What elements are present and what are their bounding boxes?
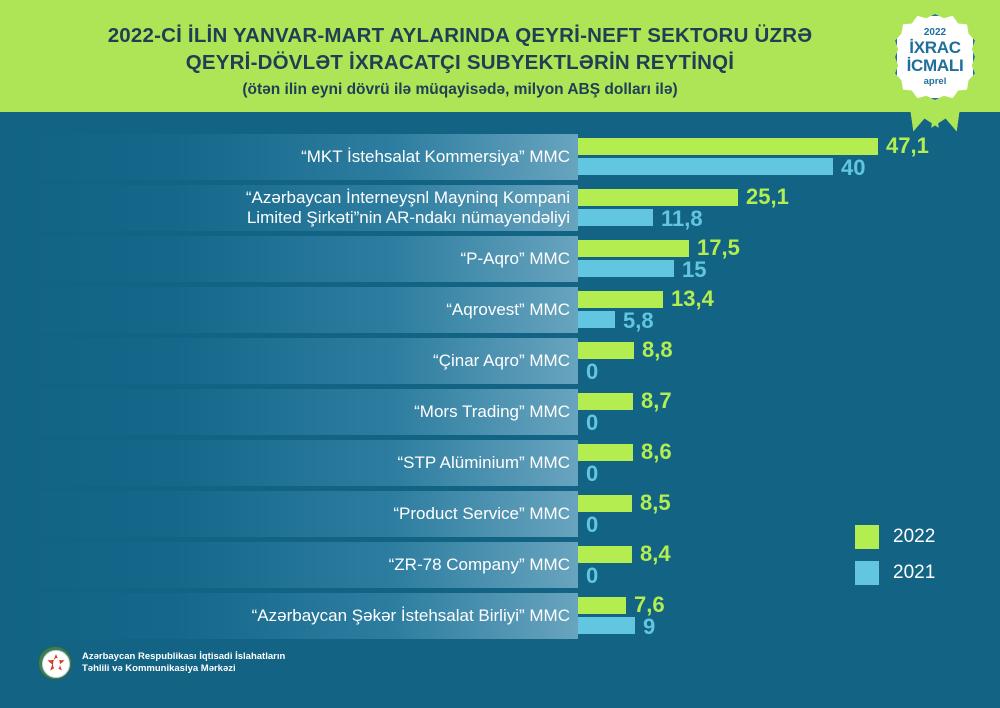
bar-value-2022: 25,1 <box>746 184 789 210</box>
row-label-band: “Azərbaycan Şəkər İstehsalat Birliyi” MM… <box>0 593 578 639</box>
row-label: “Çinar Aqro” MMC <box>433 351 578 371</box>
row-label: “STP Alüminium” MMC <box>397 453 578 473</box>
bar-2022 <box>578 546 632 563</box>
legend-item-2022: 2022 <box>855 525 975 549</box>
row-label: “Product Service” MMC <box>393 504 578 524</box>
row-bars: 13,45,8 <box>578 287 1000 333</box>
bar-2022 <box>578 444 633 461</box>
footer-line-2: Təhlili və Kommunikasiya Mərkəzi <box>82 663 285 676</box>
infographic-page: 2022-Cİ İLİN YANVAR-MART AYLARINDA QEYRİ… <box>0 0 1000 708</box>
chart-row: “MKT İstehsalat Kommersiya” MMC47,140 <box>0 134 1000 180</box>
row-bars: 8,70 <box>578 389 1000 435</box>
bar-value-2022: 8,7 <box>641 388 672 414</box>
row-label-band: “ZR-78 Company” MMC <box>0 542 578 588</box>
bar-2022 <box>578 291 663 308</box>
bar-2022 <box>578 342 634 359</box>
row-bars: 25,111,8 <box>578 185 1000 231</box>
chart-row: “P-Aqro” MMC17,515 <box>0 236 1000 282</box>
chart-row: “Azərbaycan İnterneyşnl Mayninq Kompani … <box>0 185 1000 231</box>
bar-value-2021: 0 <box>586 410 598 436</box>
header-banner: 2022-Cİ İLİN YANVAR-MART AYLARINDA QEYRİ… <box>0 0 1000 112</box>
footer-organization-name: Azərbaycan Respublikası İqtisadi İslahat… <box>82 651 285 676</box>
badge-seal-icon: 2022 İXRAC İCMALI aprel <box>895 14 975 100</box>
row-bars: 7,69 <box>578 593 1000 639</box>
chart-row: “Product Service” MMC8,50 <box>0 491 1000 537</box>
row-label-band: “Aqrovest” MMC <box>0 287 578 333</box>
badge-title-line2: İCMALI <box>907 57 964 75</box>
row-label-band: “Azərbaycan İnterneyşnl Mayninq Kompani … <box>0 185 578 231</box>
row-label-band: “MKT İstehsalat Kommersiya” MMC <box>0 134 578 180</box>
bar-value-2021: 0 <box>586 563 598 589</box>
chart-row: “Çinar Aqro” MMC8,80 <box>0 338 1000 384</box>
bar-2021 <box>578 260 674 277</box>
badge-month: aprel <box>924 75 947 88</box>
row-bars: 17,515 <box>578 236 1000 282</box>
row-label: “P-Aqro” MMC <box>460 249 578 269</box>
bar-2022 <box>578 189 738 206</box>
bar-value-2021: 15 <box>682 257 706 283</box>
chart-legend: 2022 2021 <box>855 525 975 597</box>
bar-value-2022: 13,4 <box>671 286 714 312</box>
legend-swatch-2021-icon <box>855 561 879 585</box>
bar-value-2022: 8,6 <box>641 439 672 465</box>
legend-label-2022: 2022 <box>893 526 935 548</box>
bar-2021 <box>578 617 635 634</box>
bar-2022 <box>578 495 632 512</box>
legend-swatch-2022-icon <box>855 525 879 549</box>
bar-2021 <box>578 158 833 175</box>
badge-title-line1: İXRAC <box>909 39 960 57</box>
row-label: “Aqrovest” MMC <box>446 300 578 320</box>
page-title-line-2: QEYRİ-DÖVLƏT İXRACATÇI SUBYEKTLƏRİN REYT… <box>40 49 880 76</box>
bar-value-2021: 9 <box>643 614 655 640</box>
chart-row: “Mors Trading” MMC8,70 <box>0 389 1000 435</box>
bar-2022 <box>578 393 633 410</box>
chart-row: “Azərbaycan Şəkər İstehsalat Birliyi” MM… <box>0 593 1000 639</box>
footer-credit: Azərbaycan Respublikası İqtisadi İslahat… <box>38 646 285 680</box>
chart-row: “STP Alüminium” MMC8,60 <box>0 440 1000 486</box>
legend-item-2021: 2021 <box>855 561 975 585</box>
azerbaijan-emblem-icon <box>38 646 72 680</box>
bar-2022 <box>578 597 626 614</box>
bar-value-2021: 5,8 <box>623 308 654 334</box>
bar-value-2022: 47,1 <box>886 133 929 159</box>
bar-value-2021: 0 <box>586 461 598 487</box>
bar-2022 <box>578 240 689 257</box>
bar-value-2022: 8,8 <box>642 337 673 363</box>
row-label: “Mors Trading” MMC <box>414 402 578 422</box>
legend-label-2021: 2021 <box>893 562 935 584</box>
page-subtitle: (ötən ilin eyni dövrü ilə müqayisədə, mi… <box>40 81 880 99</box>
chart-row: “Aqrovest” MMC13,45,8 <box>0 287 1000 333</box>
row-label-band: “Çinar Aqro” MMC <box>0 338 578 384</box>
bar-value-2021: 0 <box>586 359 598 385</box>
row-label: “MKT İstehsalat Kommersiya” MMC <box>301 147 578 167</box>
row-label-band: “P-Aqro” MMC <box>0 236 578 282</box>
row-label-band: “Mors Trading” MMC <box>0 389 578 435</box>
row-label: “Azərbaycan Şəkər İstehsalat Birliyi” MM… <box>252 606 578 626</box>
row-bars: 8,80 <box>578 338 1000 384</box>
bar-value-2022: 8,4 <box>640 541 671 567</box>
badge-year: 2022 <box>924 27 946 39</box>
page-title-line-1: 2022-Cİ İLİN YANVAR-MART AYLARINDA QEYRİ… <box>40 22 880 49</box>
bar-value-2021: 11,8 <box>661 206 703 232</box>
bar-value-2021: 0 <box>586 512 598 538</box>
bar-2021 <box>578 311 615 328</box>
footer-line-1: Azərbaycan Respublikası İqtisadi İslahat… <box>82 651 285 664</box>
bar-value-2021: 40 <box>841 155 865 181</box>
row-label: “Azərbaycan İnterneyşnl Mayninq Kompani … <box>246 188 578 228</box>
emblem-flame-icon <box>53 658 60 669</box>
bar-chart: “MKT İstehsalat Kommersiya” MMC47,140“Az… <box>0 112 1000 652</box>
header-text-block: 2022-Cİ İLİN YANVAR-MART AYLARINDA QEYRİ… <box>40 22 880 99</box>
row-label-band: “STP Alüminium” MMC <box>0 440 578 486</box>
row-label: “ZR-78 Company” MMC <box>389 555 578 575</box>
row-bars: 8,60 <box>578 440 1000 486</box>
row-label-band: “Product Service” MMC <box>0 491 578 537</box>
bar-2022 <box>578 138 878 155</box>
bar-value-2022: 8,5 <box>640 490 671 516</box>
chart-row: “ZR-78 Company” MMC8,40 <box>0 542 1000 588</box>
row-bars: 47,140 <box>578 134 1000 180</box>
bar-2021 <box>578 209 653 226</box>
